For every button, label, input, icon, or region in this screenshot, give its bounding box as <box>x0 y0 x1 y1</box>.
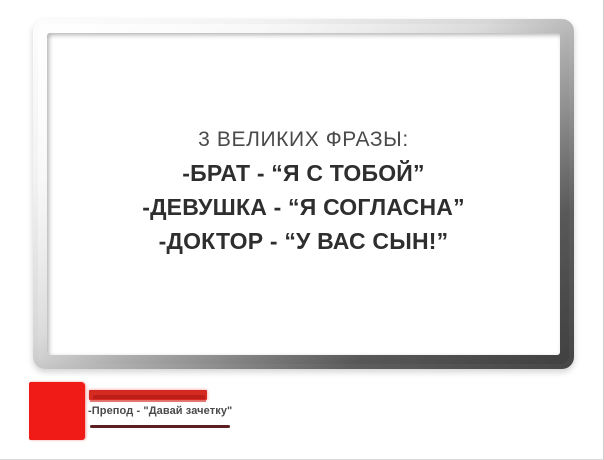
quote-block: 3 ВЕЛИКИХ ФРАЗЫ: -БРАТ - “Я С ТОБОЙ” -ДЕ… <box>142 128 465 255</box>
signature-text: -Препод - "Давай зачетку" <box>88 405 232 417</box>
meme-image: 3 ВЕЛИКИХ ФРАЗЫ: -БРАТ - “Я С ТОБОЙ” -ДЕ… <box>0 0 604 460</box>
censor-bar-icon <box>89 390 207 400</box>
signature-watermark: -Препод - "Давай зачетку" <box>29 380 279 442</box>
signature-underline <box>90 425 230 428</box>
quote-line-brother: -БРАТ - “Я С ТОБОЙ” <box>142 160 465 187</box>
picture-frame: 3 ВЕЛИКИХ ФРАЗЫ: -БРАТ - “Я С ТОБОЙ” -ДЕ… <box>33 19 574 369</box>
quote-line-doctor: -ДОКТОР - “У ВАС СЫН!” <box>142 228 465 255</box>
quote-line-girl: -ДЕВУШКА - “Я СОГЛАСНА” <box>142 194 465 221</box>
red-ink-block <box>29 382 85 440</box>
quote-heading: 3 ВЕЛИКИХ ФРАЗЫ: <box>142 128 465 153</box>
frame-inner-canvas: 3 ВЕЛИКИХ ФРАЗЫ: -БРАТ - “Я С ТОБОЙ” -ДЕ… <box>47 33 560 355</box>
